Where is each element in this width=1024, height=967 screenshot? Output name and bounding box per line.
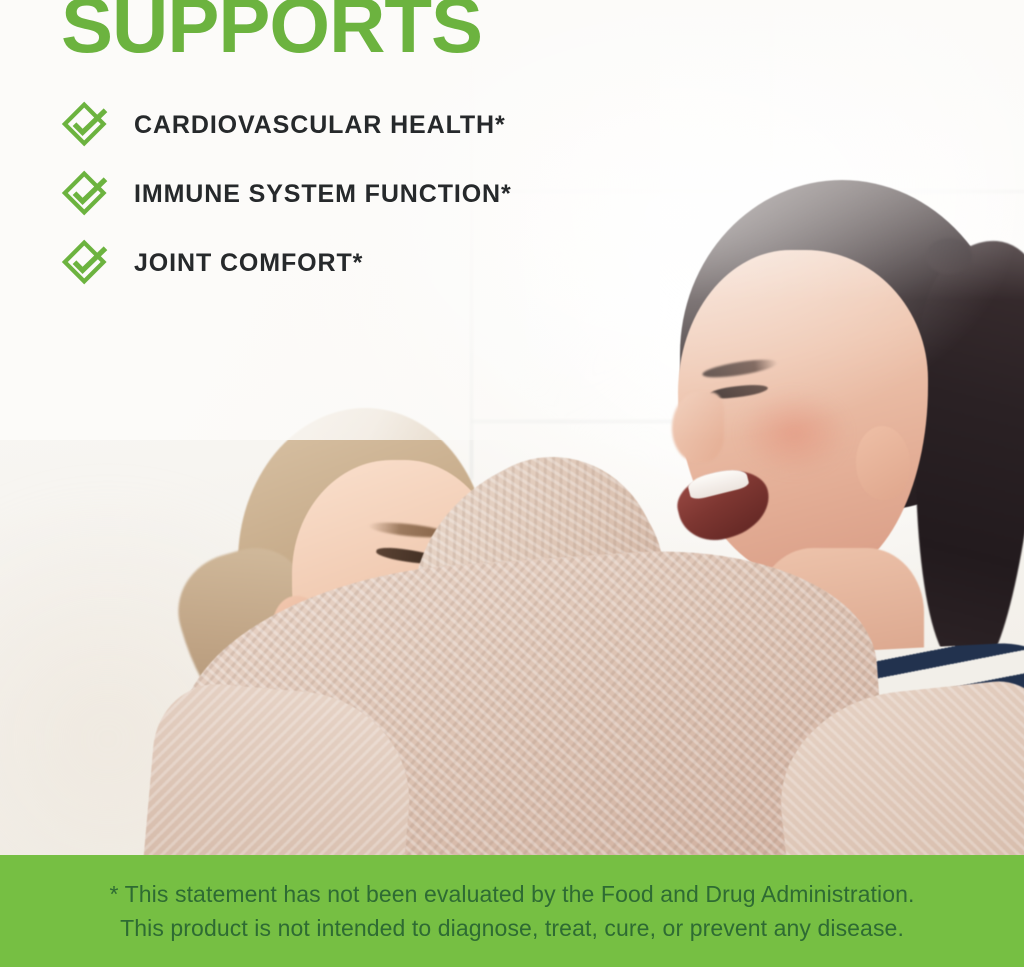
benefit-item-joint-comfort: JOINT COMFORT*: [60, 234, 512, 292]
disclaimer-line-2: This product is not intended to diagnose…: [120, 911, 904, 945]
benefit-label: CARDIOVASCULAR HEALTH*: [134, 111, 506, 140]
benefits-list: CARDIOVASCULAR HEALTH* IMMUNE SYSTEM FUN…: [60, 96, 512, 303]
product-benefits-panel: SUPPORTS CARDIOVASCULAR HEALTH* IMMUNE S…: [0, 0, 1024, 967]
benefit-label: JOINT COMFORT*: [134, 249, 363, 278]
check-diamond-icon: [60, 238, 110, 288]
benefit-item-cardiovascular-health: CARDIOVASCULAR HEALTH*: [60, 96, 512, 154]
check-diamond-icon: [60, 100, 110, 150]
disclaimer-line-1: * This statement has not been evaluated …: [110, 877, 915, 911]
page-title: SUPPORTS: [61, 0, 482, 64]
benefit-label: IMMUNE SYSTEM FUNCTION*: [134, 180, 512, 209]
check-diamond-icon: [60, 169, 110, 219]
fda-disclaimer-banner: * This statement has not been evaluated …: [0, 855, 1024, 967]
benefit-item-immune-system-function: IMMUNE SYSTEM FUNCTION*: [60, 165, 512, 223]
content-layer: SUPPORTS CARDIOVASCULAR HEALTH* IMMUNE S…: [0, 0, 1024, 967]
